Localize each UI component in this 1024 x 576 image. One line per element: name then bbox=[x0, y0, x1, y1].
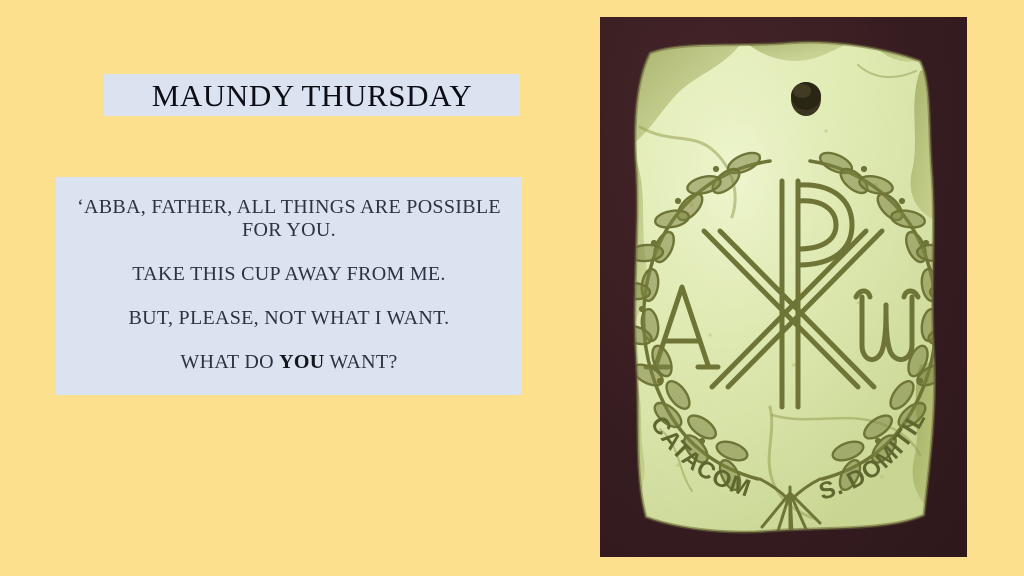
plaque-body: CATACOMBE S. DOMITILLA bbox=[620, 35, 950, 543]
quote-line-1: ‘Abba, Father, all things are possible f… bbox=[66, 196, 512, 242]
quote-line-4-emphasis: you bbox=[279, 351, 324, 373]
chi-rho-plaque-photo: CATACOMBE S. DOMITILLA bbox=[600, 17, 967, 557]
quote-line-4-before: What do bbox=[180, 351, 279, 373]
quote-box: ‘Abba, Father, all things are possible f… bbox=[56, 177, 522, 395]
quote-line-3: But, please, not what I want. bbox=[66, 307, 512, 330]
clay-plaque: CATACOMBE S. DOMITILLA bbox=[620, 35, 950, 543]
quote-line-4: What do you want? bbox=[66, 351, 512, 374]
plaque-illustration: CATACOMBE S. DOMITILLA bbox=[620, 35, 950, 543]
hanging-hole bbox=[791, 82, 821, 116]
title-box: Maundy Thursday bbox=[104, 74, 520, 116]
quote-line-4-after: want? bbox=[324, 351, 397, 373]
slide-canvas: Maundy Thursday ‘Abba, Father, all thing… bbox=[0, 0, 1024, 576]
page-title: Maundy Thursday bbox=[152, 80, 472, 111]
quote-line-2: Take this cup away from me. bbox=[66, 263, 512, 286]
